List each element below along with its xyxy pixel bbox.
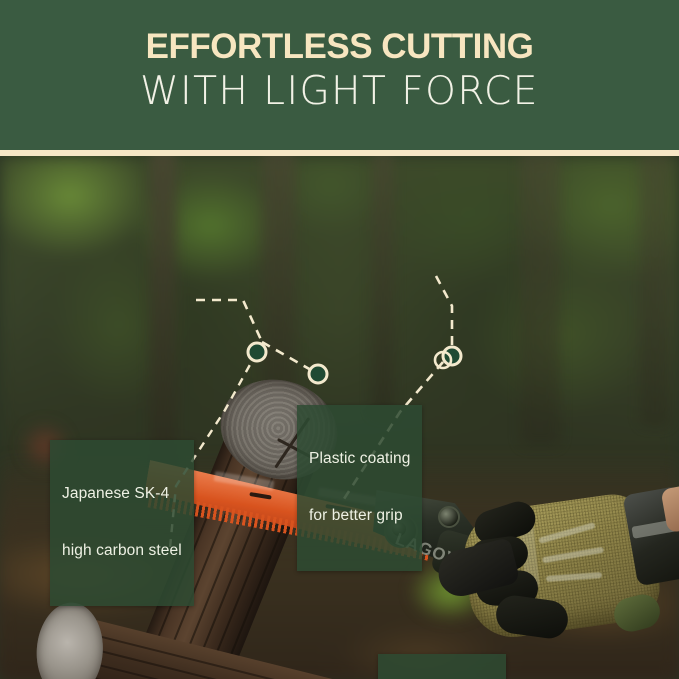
foreground-log-cut-face [33,600,106,679]
page-title-line-1: EFFORTLESS CUTTING [0,27,679,67]
product-photo-scene: LAGOV [0,156,679,679]
gloved-hand [418,486,679,679]
callout-steel-line-2: high carbon steel [62,541,182,560]
foreground-log-bark-texture [58,615,368,679]
callout-japanese-sk4-steel[interactable]: Japanese SK-4 high carbon steel [50,440,194,606]
callout-coating-line-2: for better grip [309,506,410,525]
header-banner: EFFORTLESS CUTTING WITH LIGHT FORCE [0,0,679,150]
page-title-line-2: WITH LIGHT FORCE [0,69,679,115]
title-block: EFFORTLESS CUTTING WITH LIGHT FORCE [0,0,679,115]
product-infographic: EFFORTLESS CUTTING WITH LIGHT FORCE [0,0,679,679]
callout-lug-nut[interactable]: Lug nut that won't get loose [378,654,506,679]
callout-steel-line-1: Japanese SK-4 [62,484,182,503]
callout-coating-line-1: Plastic coating [309,449,410,468]
callout-plastic-coating[interactable]: Plastic coating for better grip [297,405,422,571]
